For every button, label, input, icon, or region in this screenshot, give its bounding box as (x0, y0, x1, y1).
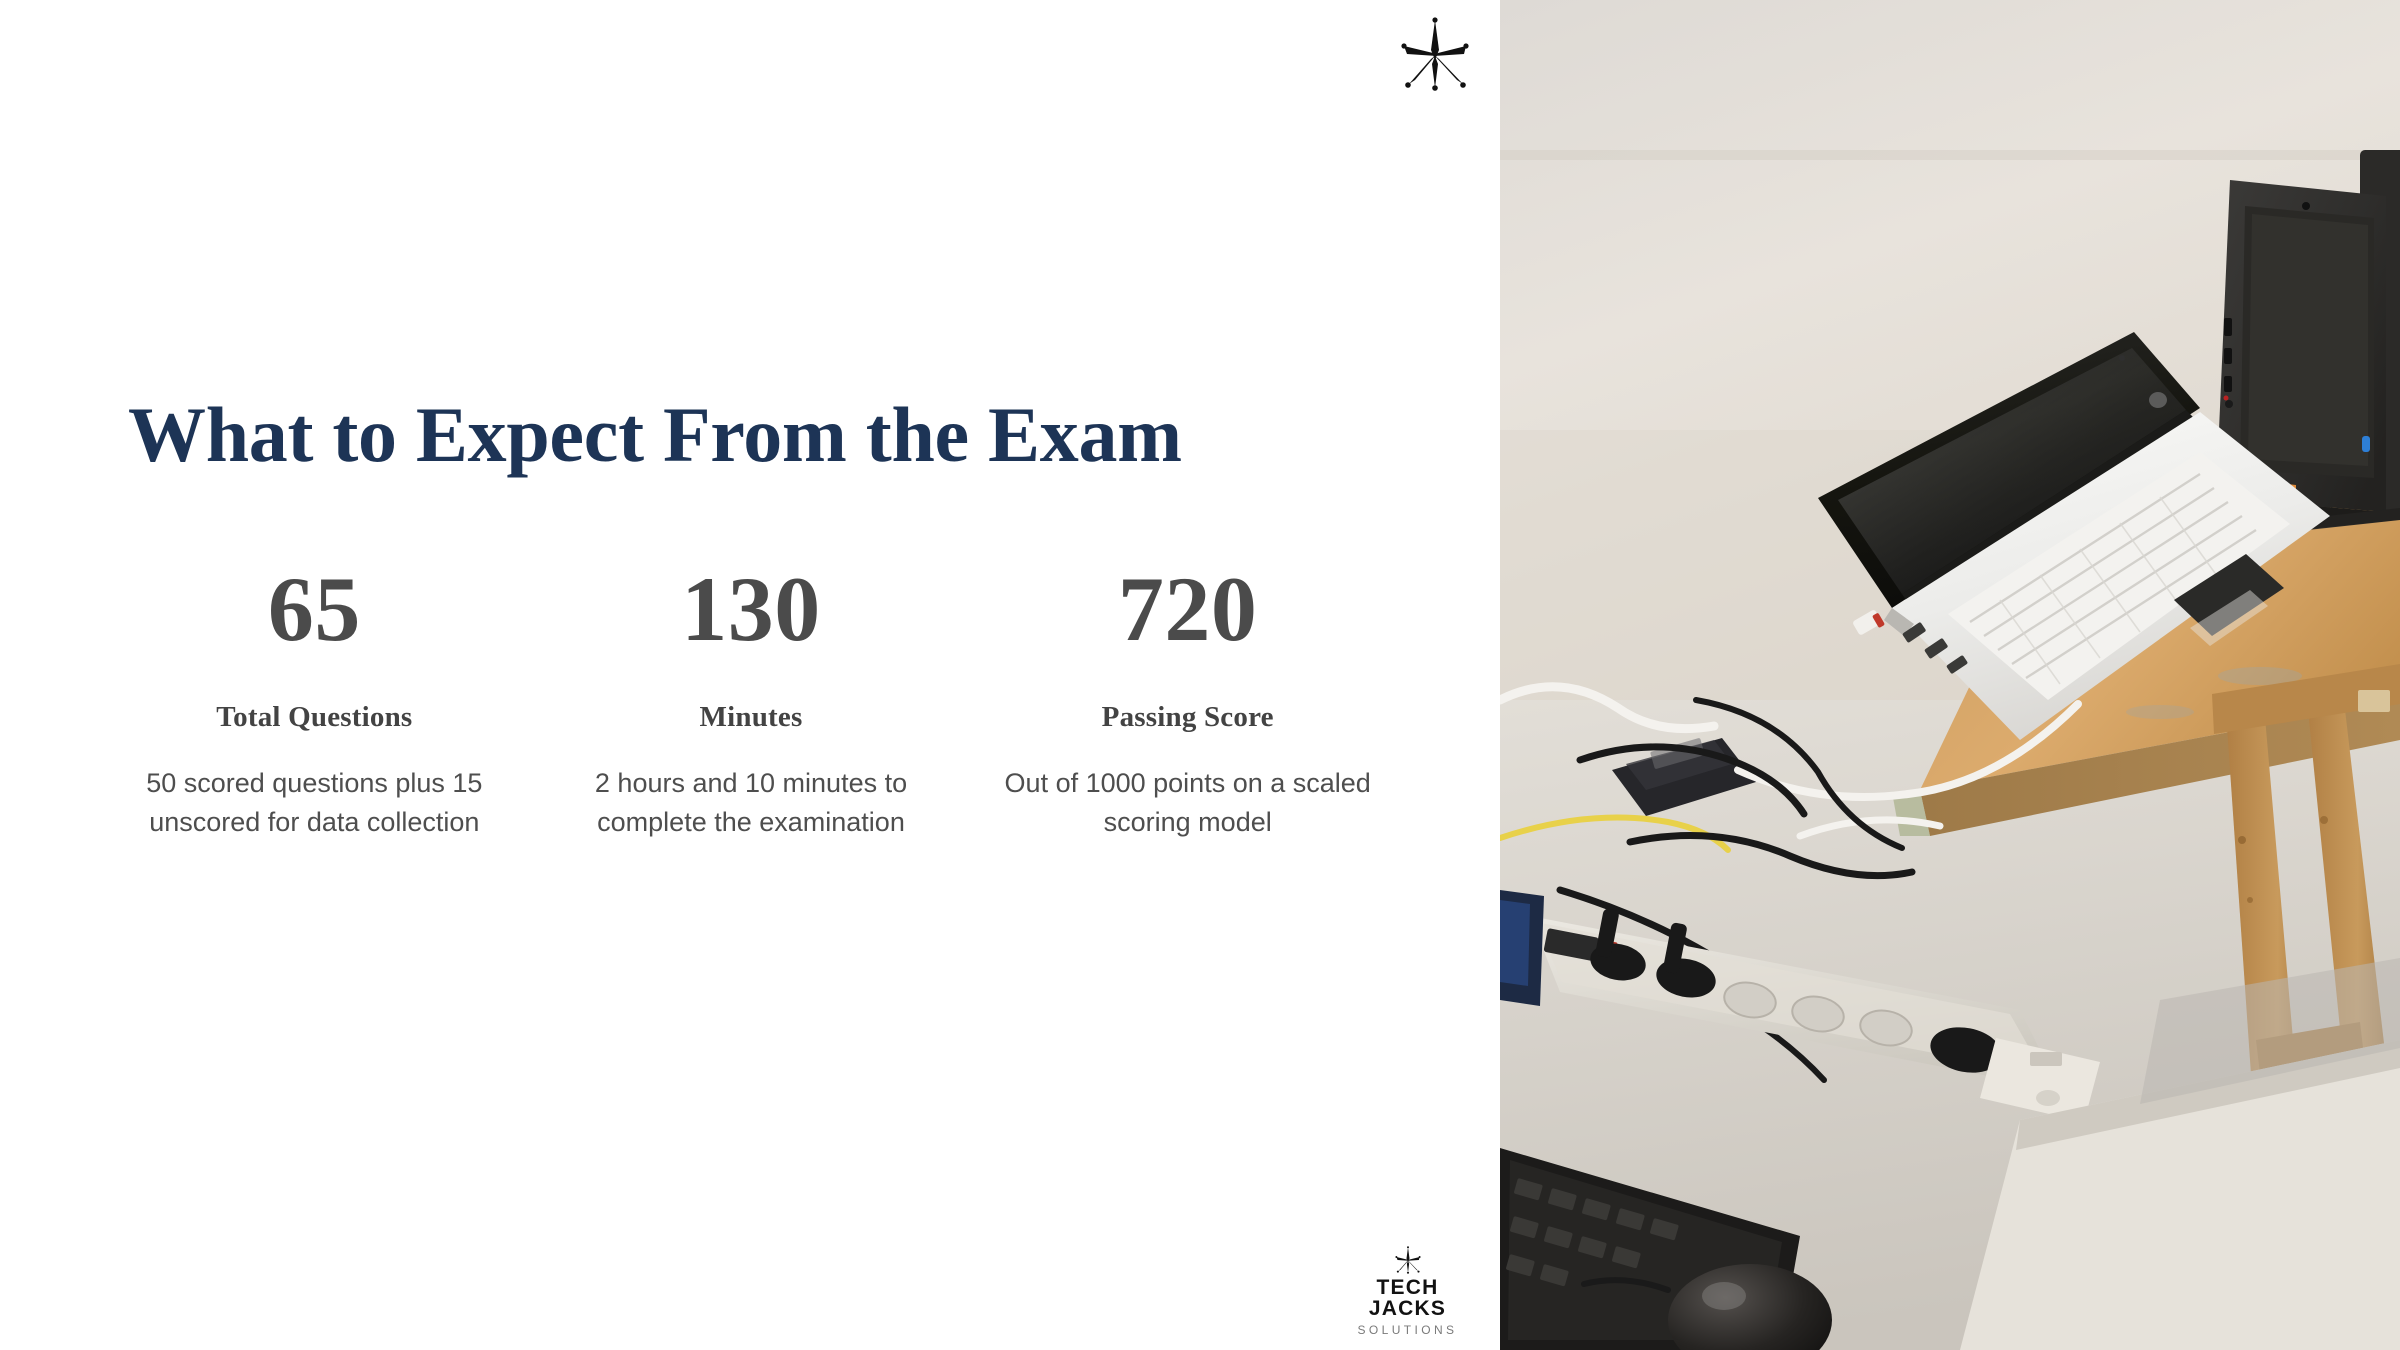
stat-number: 130 (547, 560, 956, 659)
stat-number: 65 (110, 560, 519, 659)
stat-description: Out of 1000 points on a scaled scoring m… (983, 764, 1392, 841)
stat-label: Total Questions (110, 701, 519, 734)
stat-description: 50 scored questions plus 15 unscored for… (110, 764, 519, 841)
stat-card-total-questions: 65 Total Questions 50 scored questions p… (96, 560, 533, 841)
brand-logo: TECH JACKS SOLUTIONS (1335, 1245, 1480, 1336)
brand-name: TECH JACKS (1335, 1277, 1480, 1319)
brand-tagline: SOLUTIONS (1335, 1324, 1480, 1336)
workbench-photo-illustration (1500, 0, 2400, 1350)
starburst-icon (1393, 1245, 1423, 1275)
stats-row: 65 Total Questions 50 scored questions p… (96, 560, 1406, 841)
workbench-photo (1500, 0, 2400, 1350)
starburst-icon (1395, 14, 1475, 94)
stat-card-passing-score: 720 Passing Score Out of 1000 points on … (969, 560, 1406, 841)
stat-number: 720 (983, 560, 1392, 659)
stat-label: Minutes (547, 701, 956, 734)
stat-description: 2 hours and 10 minutes to complete the e… (547, 764, 956, 841)
content-panel: What to Expect From the Exam 65 Total Qu… (0, 0, 1500, 1350)
page-title: What to Expect From the Exam (128, 390, 1182, 480)
slide-root: What to Expect From the Exam 65 Total Qu… (0, 0, 2400, 1350)
stat-card-minutes: 130 Minutes 2 hours and 10 minutes to co… (533, 560, 970, 841)
stat-label: Passing Score (983, 701, 1392, 734)
